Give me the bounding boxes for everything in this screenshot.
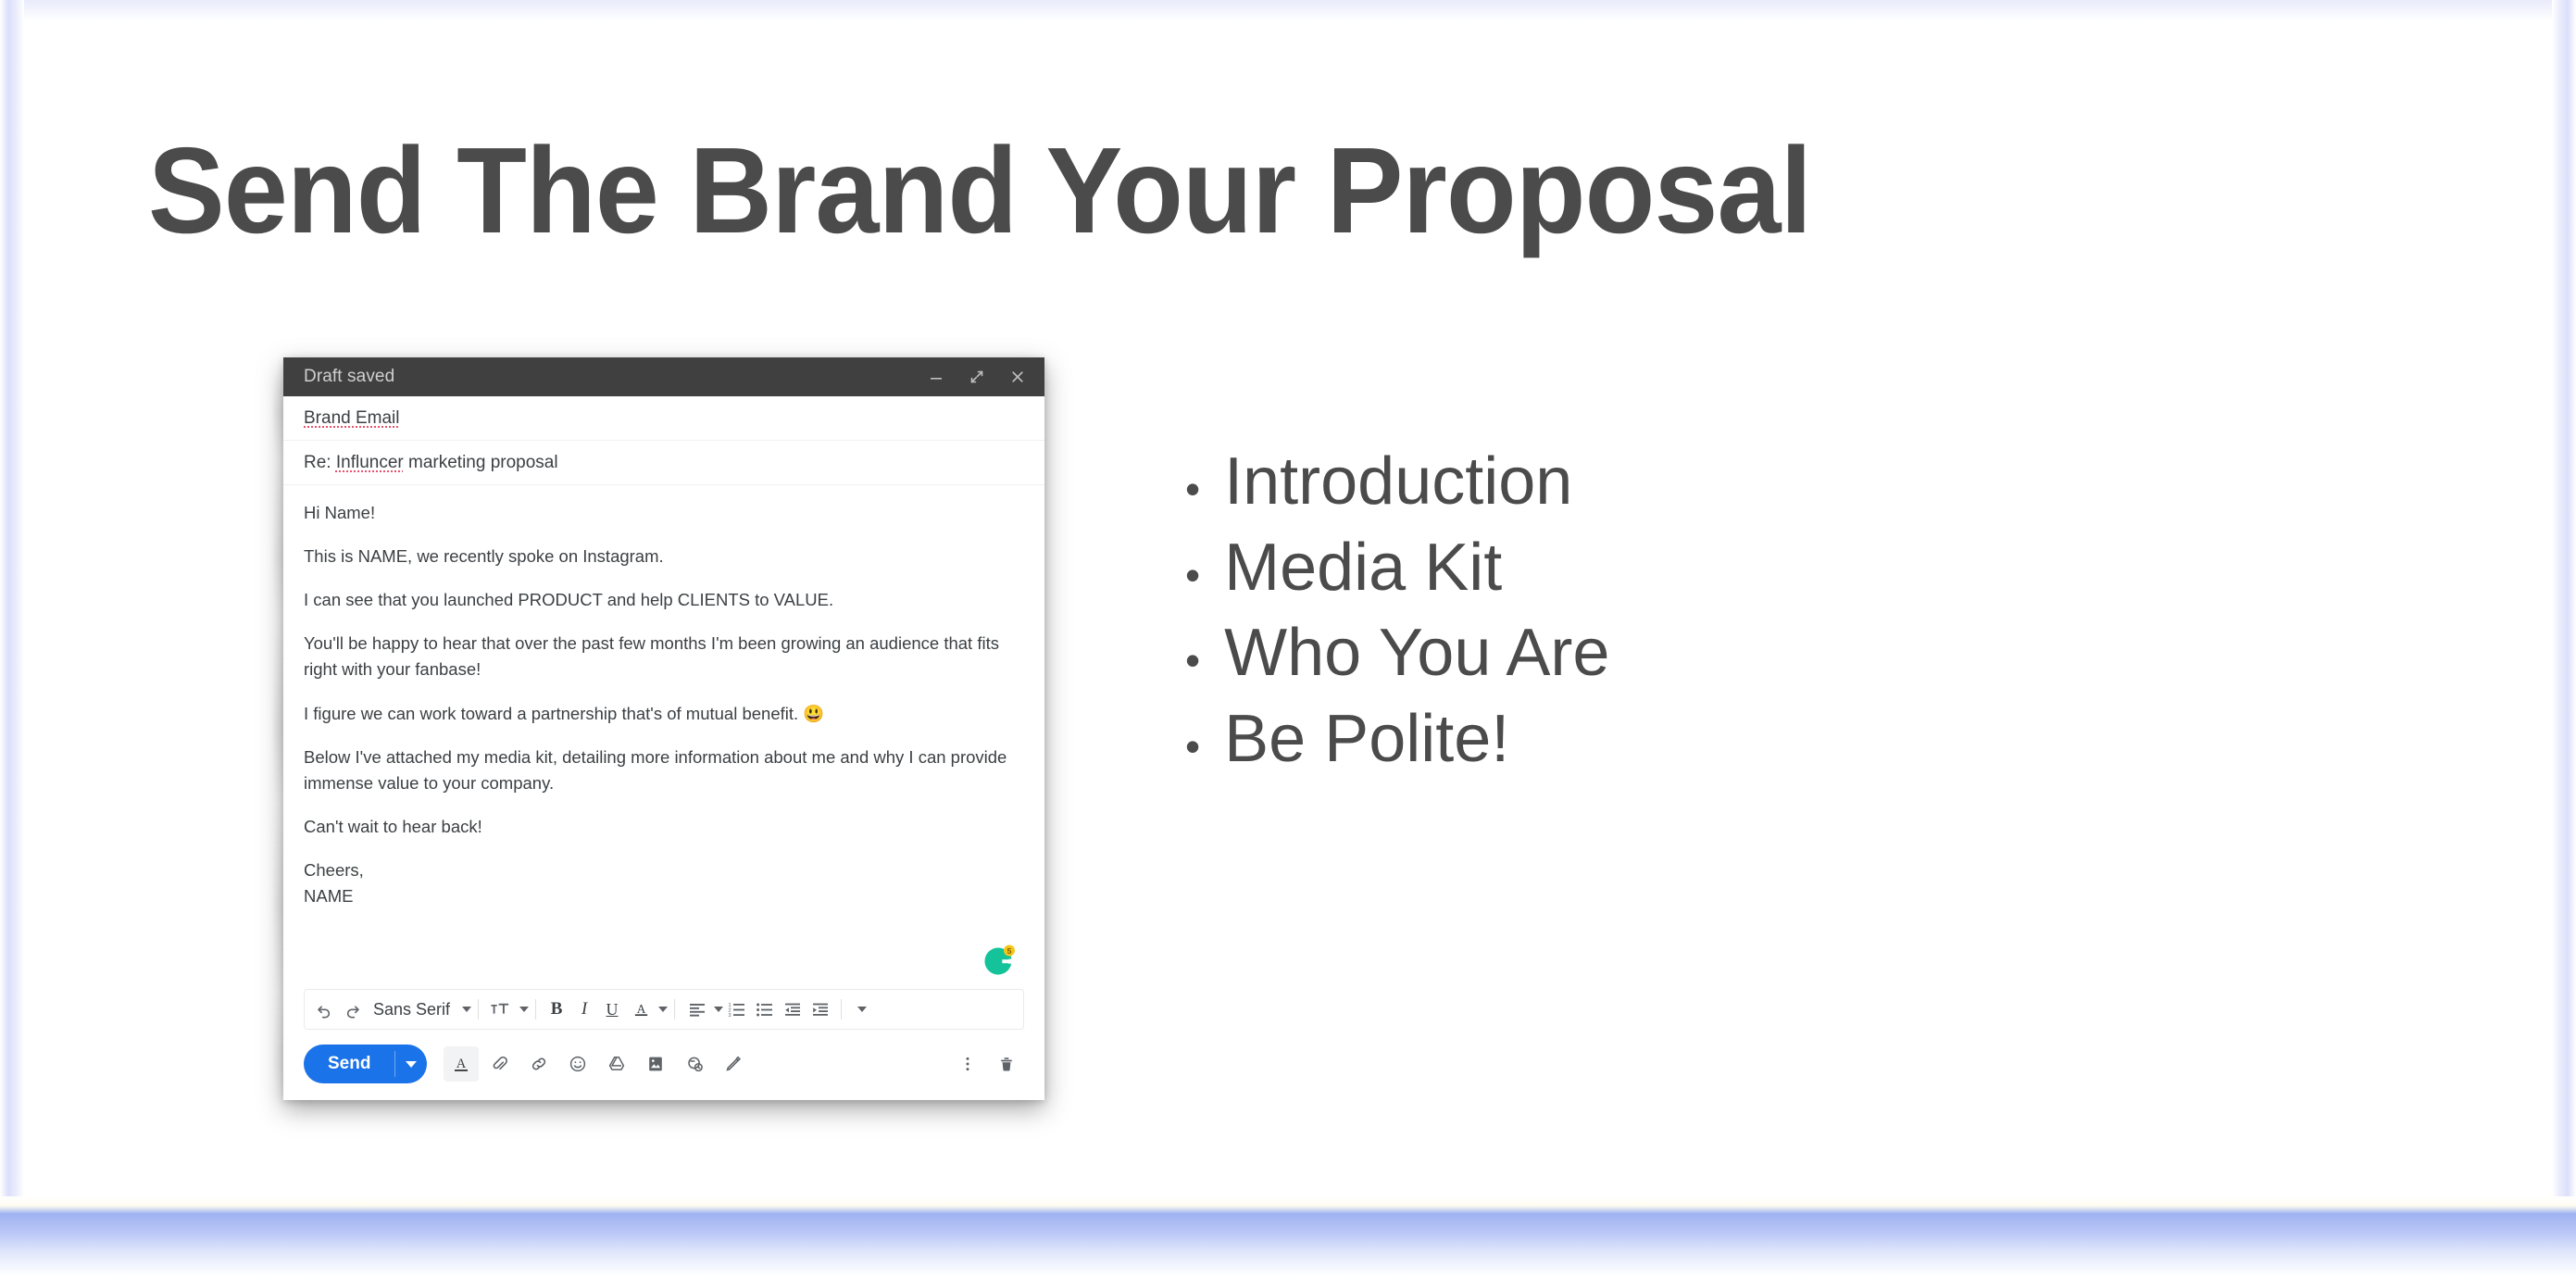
chevron-down-icon: [406, 1061, 417, 1068]
bulleted-list-icon[interactable]: [751, 995, 779, 1024]
font-family-label: Sans Serif: [366, 1000, 457, 1020]
svg-text:A: A: [456, 1057, 467, 1071]
list-item-media-kit: • Media Kit: [1185, 531, 1609, 606]
send-options-button[interactable]: [395, 1045, 427, 1083]
subject-field[interactable]: Re: Influncer marketing proposal: [283, 441, 1044, 485]
draft-status-label: Draft saved: [304, 367, 394, 387]
slide-canvas: Send The Brand Your Proposal • Introduct…: [0, 0, 2576, 1276]
subject-suffix: marketing proposal: [404, 453, 558, 472]
list-item-label: Introduction: [1224, 444, 1572, 519]
list-item-be-polite: • Be Polite!: [1185, 702, 1609, 777]
recipient-value: Brand Email: [304, 408, 400, 428]
chevron-down-icon: [462, 1007, 471, 1012]
send-button-group: Send: [304, 1045, 427, 1083]
redo-icon[interactable]: [338, 995, 366, 1024]
insert-signature-icon[interactable]: [716, 1046, 751, 1082]
toolbar-divider: [478, 999, 479, 1020]
formatting-options-icon[interactable]: A: [444, 1046, 479, 1082]
bullet-dot-icon: •: [1185, 468, 1200, 510]
google-drive-icon[interactable]: [599, 1046, 634, 1082]
subject-prefix: Re:: [304, 453, 336, 472]
list-item-label: Who You Are: [1224, 616, 1609, 691]
bullet-dot-icon: •: [1185, 639, 1200, 682]
font-size-dropdown[interactable]: [485, 995, 529, 1024]
minimize-icon[interactable]: [926, 367, 946, 387]
toolbar-divider: [841, 999, 842, 1020]
indent-more-icon[interactable]: [807, 995, 834, 1024]
list-item-label: Media Kit: [1224, 531, 1502, 606]
italic-label: I: [581, 999, 587, 1020]
text-color-icon: A: [626, 995, 654, 1024]
formatting-toolbar: Sans Serif B I U: [304, 989, 1024, 1030]
insert-link-icon[interactable]: [521, 1046, 556, 1082]
numbered-list-icon[interactable]: 1 2 3: [723, 995, 751, 1024]
slide-border-top: [0, 0, 2576, 20]
svg-text:A: A: [637, 1002, 646, 1016]
toolbar-divider: [674, 999, 675, 1020]
slide-border-left: [0, 0, 24, 1276]
insert-emoji-icon[interactable]: [560, 1046, 595, 1082]
close-icon[interactable]: [1007, 367, 1028, 387]
toolbar-divider: [535, 999, 536, 1020]
svg-text:5: 5: [1007, 946, 1012, 956]
chevron-down-icon: [658, 1007, 668, 1012]
grammarly-badge-icon[interactable]: 5: [980, 943, 1017, 980]
slide-border-bottom: [0, 1196, 2576, 1276]
text-size-icon: [485, 995, 515, 1024]
body-paragraph: You'll be happy to hear that over the pa…: [304, 631, 1024, 682]
italic-icon[interactable]: I: [570, 995, 598, 1024]
chevron-down-icon: [714, 1007, 723, 1012]
indent-less-icon[interactable]: [779, 995, 807, 1024]
gmail-compose-window: Draft saved Bran: [283, 357, 1044, 1100]
align-dropdown[interactable]: [682, 995, 723, 1024]
compose-window-controls: [926, 367, 1028, 387]
bullet-dot-icon: •: [1185, 554, 1200, 596]
text-color-dropdown[interactable]: A: [626, 995, 668, 1024]
subject-misspelled-word: Influncer: [336, 453, 404, 472]
body-paragraph: I figure we can work toward a partnershi…: [304, 701, 1024, 727]
undo-icon[interactable]: [310, 995, 338, 1024]
chevron-down-icon: [519, 1007, 529, 1012]
confidential-mode-icon[interactable]: [677, 1046, 712, 1082]
list-item-who-you-are: • Who You Are: [1185, 616, 1609, 691]
attach-file-icon[interactable]: [482, 1046, 518, 1082]
align-left-icon: [682, 995, 709, 1024]
body-paragraph: This is NAME, we recently spoke on Insta…: [304, 544, 1024, 569]
svg-text:3: 3: [729, 1013, 732, 1018]
body-paragraph: I can see that you launched PRODUCT and …: [304, 587, 1024, 613]
compose-action-bar: Send A: [283, 1035, 1044, 1100]
bullet-dot-icon: •: [1185, 725, 1200, 768]
message-body[interactable]: Hi Name! This is NAME, we recently spoke…: [283, 485, 1044, 985]
insert-photo-icon[interactable]: [638, 1046, 673, 1082]
underline-label: U: [606, 1000, 619, 1020]
slide-border-right: [2552, 0, 2576, 1276]
font-family-dropdown[interactable]: Sans Serif: [366, 1000, 471, 1020]
bold-icon[interactable]: B: [543, 995, 570, 1024]
bold-label: B: [551, 999, 563, 1020]
key-points-list: • Introduction • Media Kit • Who You Are…: [1185, 444, 1609, 788]
chevron-down-icon: [857, 1007, 867, 1012]
more-options-icon[interactable]: [950, 1046, 985, 1082]
underline-icon[interactable]: U: [598, 995, 626, 1024]
discard-draft-icon[interactable]: [989, 1046, 1024, 1082]
signature-name: NAME: [304, 883, 1024, 909]
list-item-label: Be Polite!: [1224, 702, 1509, 777]
signature-line: Cheers,: [304, 857, 1024, 883]
body-paragraph: Hi Name!: [304, 500, 1024, 526]
more-formatting-chevron-icon[interactable]: [848, 995, 876, 1024]
compose-window-header[interactable]: Draft saved: [283, 357, 1044, 396]
body-paragraph: Below I've attached my media kit, detail…: [304, 744, 1024, 796]
page-title: Send The Brand Your Proposal: [148, 120, 1811, 260]
list-item-introduction: • Introduction: [1185, 444, 1609, 519]
recipient-field[interactable]: Brand Email: [283, 396, 1044, 441]
body-paragraph: Can't wait to hear back!: [304, 814, 1024, 840]
send-button[interactable]: Send: [304, 1045, 394, 1083]
expand-icon[interactable]: [967, 367, 987, 387]
